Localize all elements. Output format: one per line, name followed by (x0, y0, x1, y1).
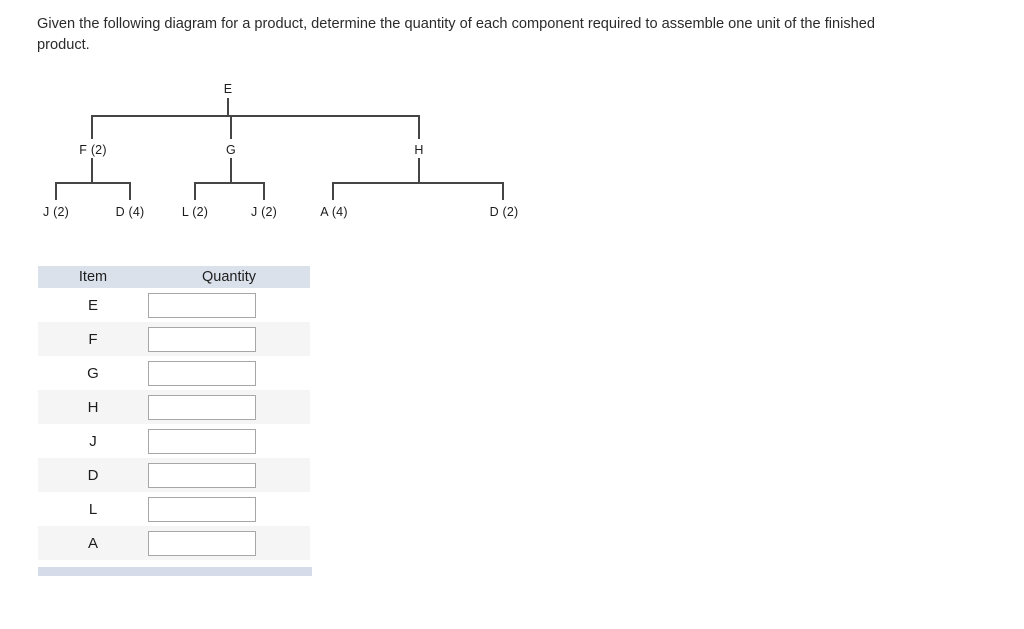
item-label: G (38, 356, 148, 390)
tree-node-j-under-g: J (2) (251, 205, 277, 219)
quantity-input-j[interactable] (148, 429, 256, 454)
connector-level2-bus-g (194, 182, 265, 184)
quantity-answer-table: Item Quantity EFGHJDLA (38, 266, 310, 560)
quantity-input-l[interactable] (148, 497, 256, 522)
table-row: E (38, 288, 310, 322)
table-row: G (38, 356, 310, 390)
tree-node-d-under-f: D (4) (116, 205, 145, 219)
quantity-cell (148, 492, 310, 526)
column-header-quantity: Quantity (148, 266, 310, 288)
quantity-cell (148, 356, 310, 390)
connector-drop-g (230, 115, 232, 139)
connector-stem-g (230, 158, 232, 183)
item-label: D (38, 458, 148, 492)
connector-stem-h (418, 158, 420, 183)
item-label: J (38, 424, 148, 458)
connector-root-stem (227, 98, 229, 116)
item-label: A (38, 526, 148, 560)
tree-node-l-under-g: L (2) (182, 205, 208, 219)
quantity-input-e[interactable] (148, 293, 256, 318)
connector-level2-bus-h (332, 182, 504, 184)
connector-stem-f (91, 158, 93, 183)
connector-level2-bus-f (55, 182, 131, 184)
tree-node-f: F (2) (79, 143, 106, 157)
quantity-cell (148, 526, 310, 560)
tree-node-j-under-f: J (2) (43, 205, 69, 219)
quantity-input-a[interactable] (148, 531, 256, 556)
connector-drop-h (418, 115, 420, 139)
table-row: A (38, 526, 310, 560)
quantity-input-f[interactable] (148, 327, 256, 352)
connector-drop-j1 (55, 182, 57, 200)
bom-tree-diagram: E F (2) G H J (2) D (4) L (2) J (2) A (4… (0, 0, 1024, 245)
quantity-input-d[interactable] (148, 463, 256, 488)
table-header-row: Item Quantity (38, 266, 310, 288)
connector-drop-j2 (263, 182, 265, 200)
column-header-item: Item (38, 266, 148, 288)
table-row: F (38, 322, 310, 356)
item-label: H (38, 390, 148, 424)
tree-node-a-under-h: A (4) (320, 205, 347, 219)
connector-drop-l (194, 182, 196, 200)
connector-level1-bus (91, 115, 420, 117)
connector-drop-a (332, 182, 334, 200)
quantity-cell (148, 458, 310, 492)
quantity-cell (148, 322, 310, 356)
table-row: H (38, 390, 310, 424)
quantity-cell (148, 424, 310, 458)
quantity-input-g[interactable] (148, 361, 256, 386)
table-row: L (38, 492, 310, 526)
table-row: D (38, 458, 310, 492)
quantity-cell (148, 288, 310, 322)
item-label: L (38, 492, 148, 526)
tree-node-h: H (414, 143, 423, 157)
connector-drop-d1 (129, 182, 131, 200)
tree-node-g: G (226, 143, 236, 157)
quantity-cell (148, 390, 310, 424)
connector-drop-d2 (502, 182, 504, 200)
table-footer-bar (38, 567, 312, 576)
quantity-input-h[interactable] (148, 395, 256, 420)
item-label: F (38, 322, 148, 356)
tree-node-e: E (224, 82, 233, 96)
tree-node-d-under-h: D (2) (490, 205, 519, 219)
table-row: J (38, 424, 310, 458)
table-body: EFGHJDLA (38, 288, 310, 560)
connector-drop-f (91, 115, 93, 139)
item-label: E (38, 288, 148, 322)
